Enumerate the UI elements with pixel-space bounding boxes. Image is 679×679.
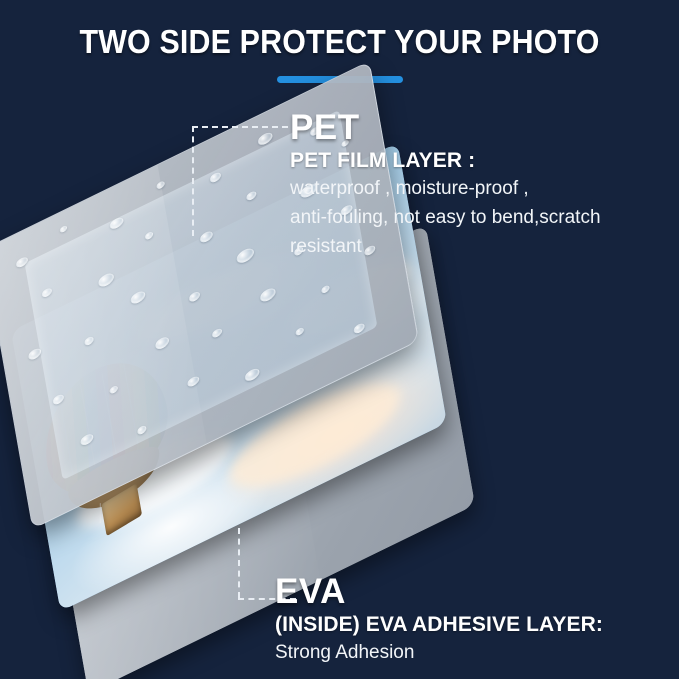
pet-description-line: anti-fouling, not easy to bend,scratch [290,203,630,232]
eva-description-line: Strong Adhesion [275,638,645,667]
eva-title: EVA [275,572,645,611]
pet-description-line: resistant [290,232,630,261]
pet-leader-vertical [192,126,194,236]
pet-title: PET [290,108,630,147]
pet-subtitle: PET FILM LAYER : [290,147,630,174]
pet-leader-horizontal [192,126,288,128]
eva-leader-vertical [238,528,240,598]
pet-callout: PET PET FILM LAYER : waterproof , moistu… [290,108,630,261]
eva-callout: EVA (INSIDE) EVA ADHESIVE LAYER: Strong … [275,572,645,667]
pet-description-line: waterproof , moisture-proof , [290,174,630,203]
infographic-canvas: TWO SIDE PROTECT YOUR PHOTO [0,0,679,679]
pet-leader-line [192,126,292,238]
eva-subtitle: (INSIDE) EVA ADHESIVE LAYER: [275,611,645,638]
